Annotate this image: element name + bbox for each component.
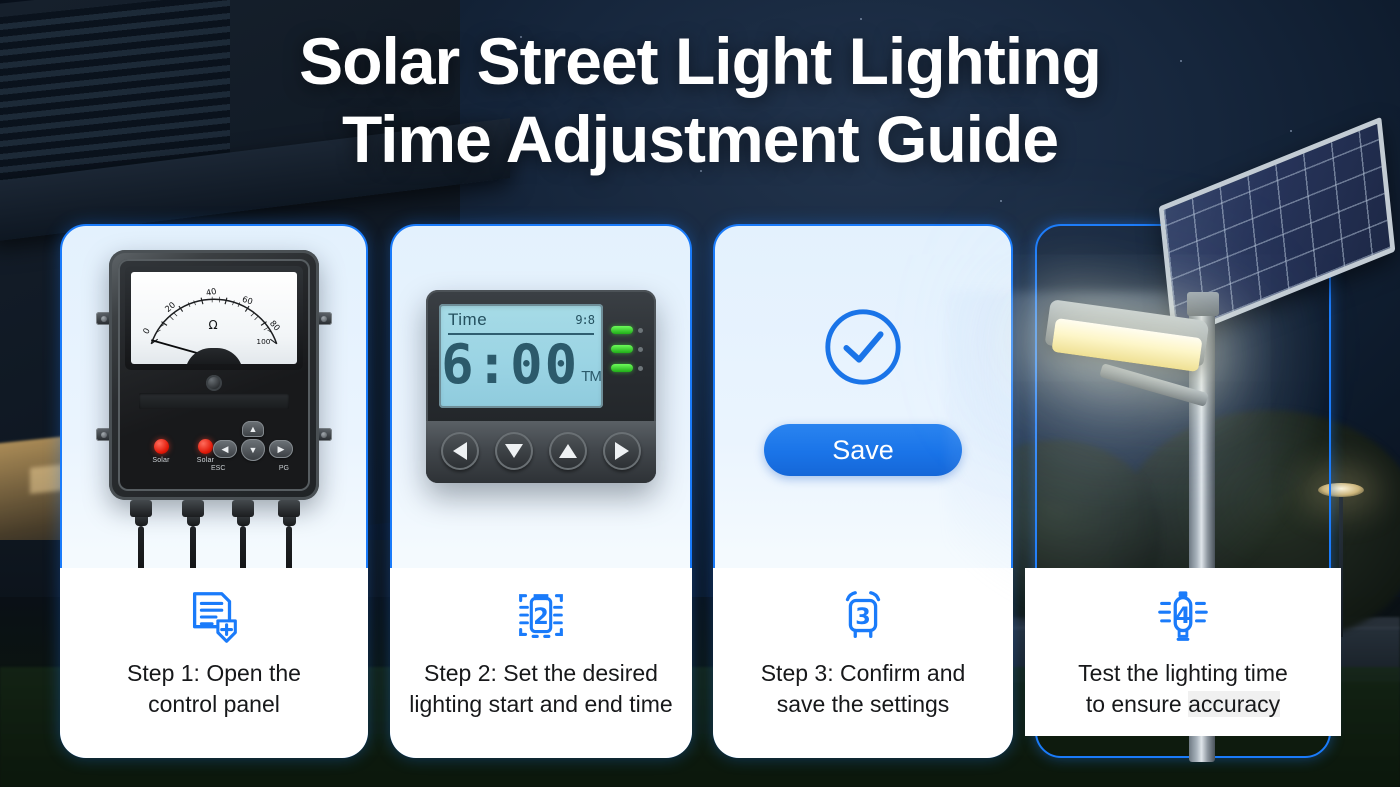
controller-illustration: 0 20 40 60 80 100 Ω	[62, 226, 366, 572]
controller-lcd-strip	[139, 393, 289, 409]
dpad-pg-label: PG	[279, 465, 289, 472]
dpad-right-button[interactable]: ▶	[269, 440, 293, 458]
solar-charge-controller: 0 20 40 60 80 100 Ω	[109, 250, 319, 500]
timer-lcd: Time 9:8 6:00 TM	[439, 304, 603, 408]
timer-right-button[interactable]	[603, 432, 641, 470]
step-card-1[interactable]: 0 20 40 60 80 100 Ω	[60, 224, 368, 758]
status-bar-row	[611, 345, 643, 353]
meter-face: 0 20 40 60 80 100 Ω	[131, 272, 297, 364]
green-bar-icon	[611, 345, 633, 353]
step-card-2[interactable]: Time 9:8 6:00 TM	[390, 224, 692, 758]
lcd-readout: 6:00 TM	[448, 337, 594, 393]
step-1-footer: Step 1: Open the control panel	[60, 568, 368, 758]
lcd-header: Time 9:8	[448, 310, 594, 335]
step-3-caption: Step 3: Confirm and save the settings	[753, 658, 974, 720]
svg-text:Ω: Ω	[208, 318, 217, 332]
controller-dpad[interactable]: ▲ ◀ ▼ ▶ ESC PG	[209, 421, 295, 479]
alarm-3-icon: 3	[832, 586, 894, 648]
steps-row: 0 20 40 60 80 100 Ω	[60, 224, 1340, 758]
timer-up-button[interactable]	[549, 432, 587, 470]
status-dot-icon	[638, 366, 643, 371]
arrow-left-icon	[453, 442, 467, 460]
timer-display-row: Time 9:8 6:00 TM	[439, 304, 643, 408]
solar-street-light	[1037, 142, 1329, 612]
step-1-caption: Step 1: Open the control panel	[119, 658, 309, 720]
step-4-caption: Test the lighting time to ensure accurac…	[1070, 658, 1296, 720]
green-bar-icon	[611, 364, 633, 372]
led-label-1: Solar	[141, 457, 181, 464]
svg-text:40: 40	[205, 286, 217, 298]
arrow-right-icon	[615, 442, 629, 460]
street-light-illustration	[1037, 226, 1329, 572]
svg-text:60: 60	[241, 294, 254, 307]
timer-illustration: Time 9:8 6:00 TM	[392, 226, 690, 572]
controller-front-panel: 0 20 40 60 80 100 Ω	[118, 259, 310, 491]
timer-status-bars	[611, 304, 643, 372]
step-4-caption-line1: Test the lighting time	[1078, 660, 1288, 686]
svg-text:0: 0	[141, 326, 152, 335]
lcd-time-value: 6:00	[441, 337, 579, 393]
svg-text:2: 2	[533, 604, 549, 630]
lcd-corner-indicator: 9:8	[575, 313, 594, 327]
pole-clamp	[1187, 292, 1219, 316]
controller-body: 0 20 40 60 80 100 Ω	[109, 250, 319, 500]
document-add-icon	[183, 586, 245, 648]
status-dot-icon	[638, 328, 643, 333]
digital-timer: Time 9:8 6:00 TM	[426, 290, 656, 483]
controller-lower-panel: Solar Solar ▲ ◀ ▼	[125, 383, 303, 484]
lamp-4-icon: 4	[1152, 586, 1214, 648]
dpad-left-button[interactable]: ◀	[213, 440, 237, 458]
svg-text:100: 100	[256, 337, 270, 346]
timer-left-button[interactable]	[441, 432, 479, 470]
led-red-icon	[154, 439, 169, 454]
step-4-footer: 4 Test the lighting time to ensure accur…	[1025, 568, 1341, 736]
step-2-footer: 2 Step 2: Set the desired lighting start…	[390, 568, 692, 758]
dpad-down-button[interactable]: ▼	[241, 439, 265, 461]
check-circle-icon	[820, 304, 906, 390]
timer-button-bar	[426, 421, 656, 483]
status-dot-icon	[638, 347, 643, 352]
arrow-up-icon	[559, 444, 577, 458]
status-bar-row	[611, 326, 643, 334]
arrow-down-icon	[505, 444, 523, 458]
panel-2-icon: 2	[510, 586, 572, 648]
status-bar-row	[611, 364, 643, 372]
save-button[interactable]: Save	[764, 424, 962, 476]
step-4-caption-highlight: accuracy	[1188, 691, 1280, 717]
dpad-up-button[interactable]: ▲	[242, 421, 264, 437]
svg-text:3: 3	[855, 604, 871, 630]
green-bar-icon	[611, 326, 633, 334]
analog-meter: 0 20 40 60 80 100 Ω	[125, 266, 303, 370]
svg-text:4: 4	[1175, 603, 1191, 629]
timer-down-button[interactable]	[495, 432, 533, 470]
led-indicator-1: Solar	[141, 439, 181, 464]
step-card-4[interactable]: 4 Test the lighting time to ensure accur…	[1035, 224, 1331, 758]
dpad-esc-label: ESC	[211, 465, 225, 472]
step-2-caption: Step 2: Set the desired lighting start a…	[401, 658, 680, 720]
lcd-label: Time	[448, 310, 487, 330]
lcd-unit-label: TM	[581, 368, 601, 393]
step-4-caption-line2: to ensure	[1086, 691, 1188, 717]
